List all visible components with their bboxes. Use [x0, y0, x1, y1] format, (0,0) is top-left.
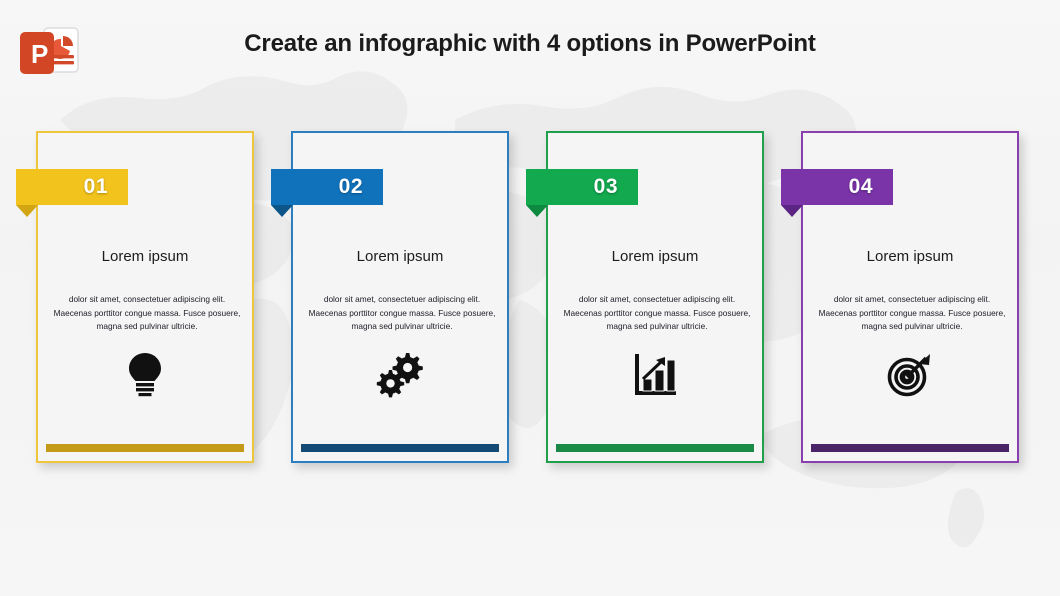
cards-row: 01 Lorem ipsum dolor sit amet, consectet…	[0, 0, 1060, 596]
option-card-01[interactable]: 01 Lorem ipsum dolor sit amet, consectet…	[36, 131, 254, 463]
option-number: 03	[526, 169, 638, 205]
option-number: 02	[271, 169, 383, 205]
option-card-02[interactable]: 02 Lorem ipsum dolor sit amet, consectet…	[291, 131, 509, 463]
ribbon-badge-02: 02	[271, 169, 383, 205]
ribbon-fold	[781, 205, 803, 217]
ribbon-fold	[526, 205, 548, 217]
card-body-text: dolor sit amet, consectetuer adipiscing …	[562, 293, 752, 334]
bar-chart-growth-icon	[548, 352, 762, 403]
lightbulb-icon	[38, 350, 252, 403]
option-card-03[interactable]: 03 Lorem ipsum dolor sit amet, consectet…	[546, 131, 764, 463]
card-title: Lorem ipsum	[38, 248, 252, 265]
card-bottom-bar	[811, 444, 1009, 452]
card-body-text: dolor sit amet, consectetuer adipiscing …	[52, 293, 242, 334]
ribbon-fold	[16, 205, 38, 217]
card-body-text: dolor sit amet, consectetuer adipiscing …	[817, 293, 1007, 334]
ribbon-badge-04: 04	[781, 169, 893, 205]
card-title: Lorem ipsum	[803, 248, 1017, 265]
card-title: Lorem ipsum	[548, 248, 762, 265]
target-dart-icon	[803, 352, 1017, 403]
card-bottom-bar	[301, 444, 499, 452]
card-body-text: dolor sit amet, consectetuer adipiscing …	[307, 293, 497, 334]
ribbon-badge-03: 03	[526, 169, 638, 205]
gears-icon	[293, 350, 507, 403]
ribbon-badge-01: 01	[16, 169, 128, 205]
option-card-04[interactable]: 04 Lorem ipsum dolor sit amet, consectet…	[801, 131, 1019, 463]
card-bottom-bar	[46, 444, 244, 452]
card-bottom-bar	[556, 444, 754, 452]
option-number: 04	[781, 169, 893, 205]
card-title: Lorem ipsum	[293, 248, 507, 265]
option-number: 01	[16, 169, 128, 205]
ribbon-fold	[271, 205, 293, 217]
slide-canvas: P Create an infographic with 4 options i…	[0, 0, 1060, 596]
